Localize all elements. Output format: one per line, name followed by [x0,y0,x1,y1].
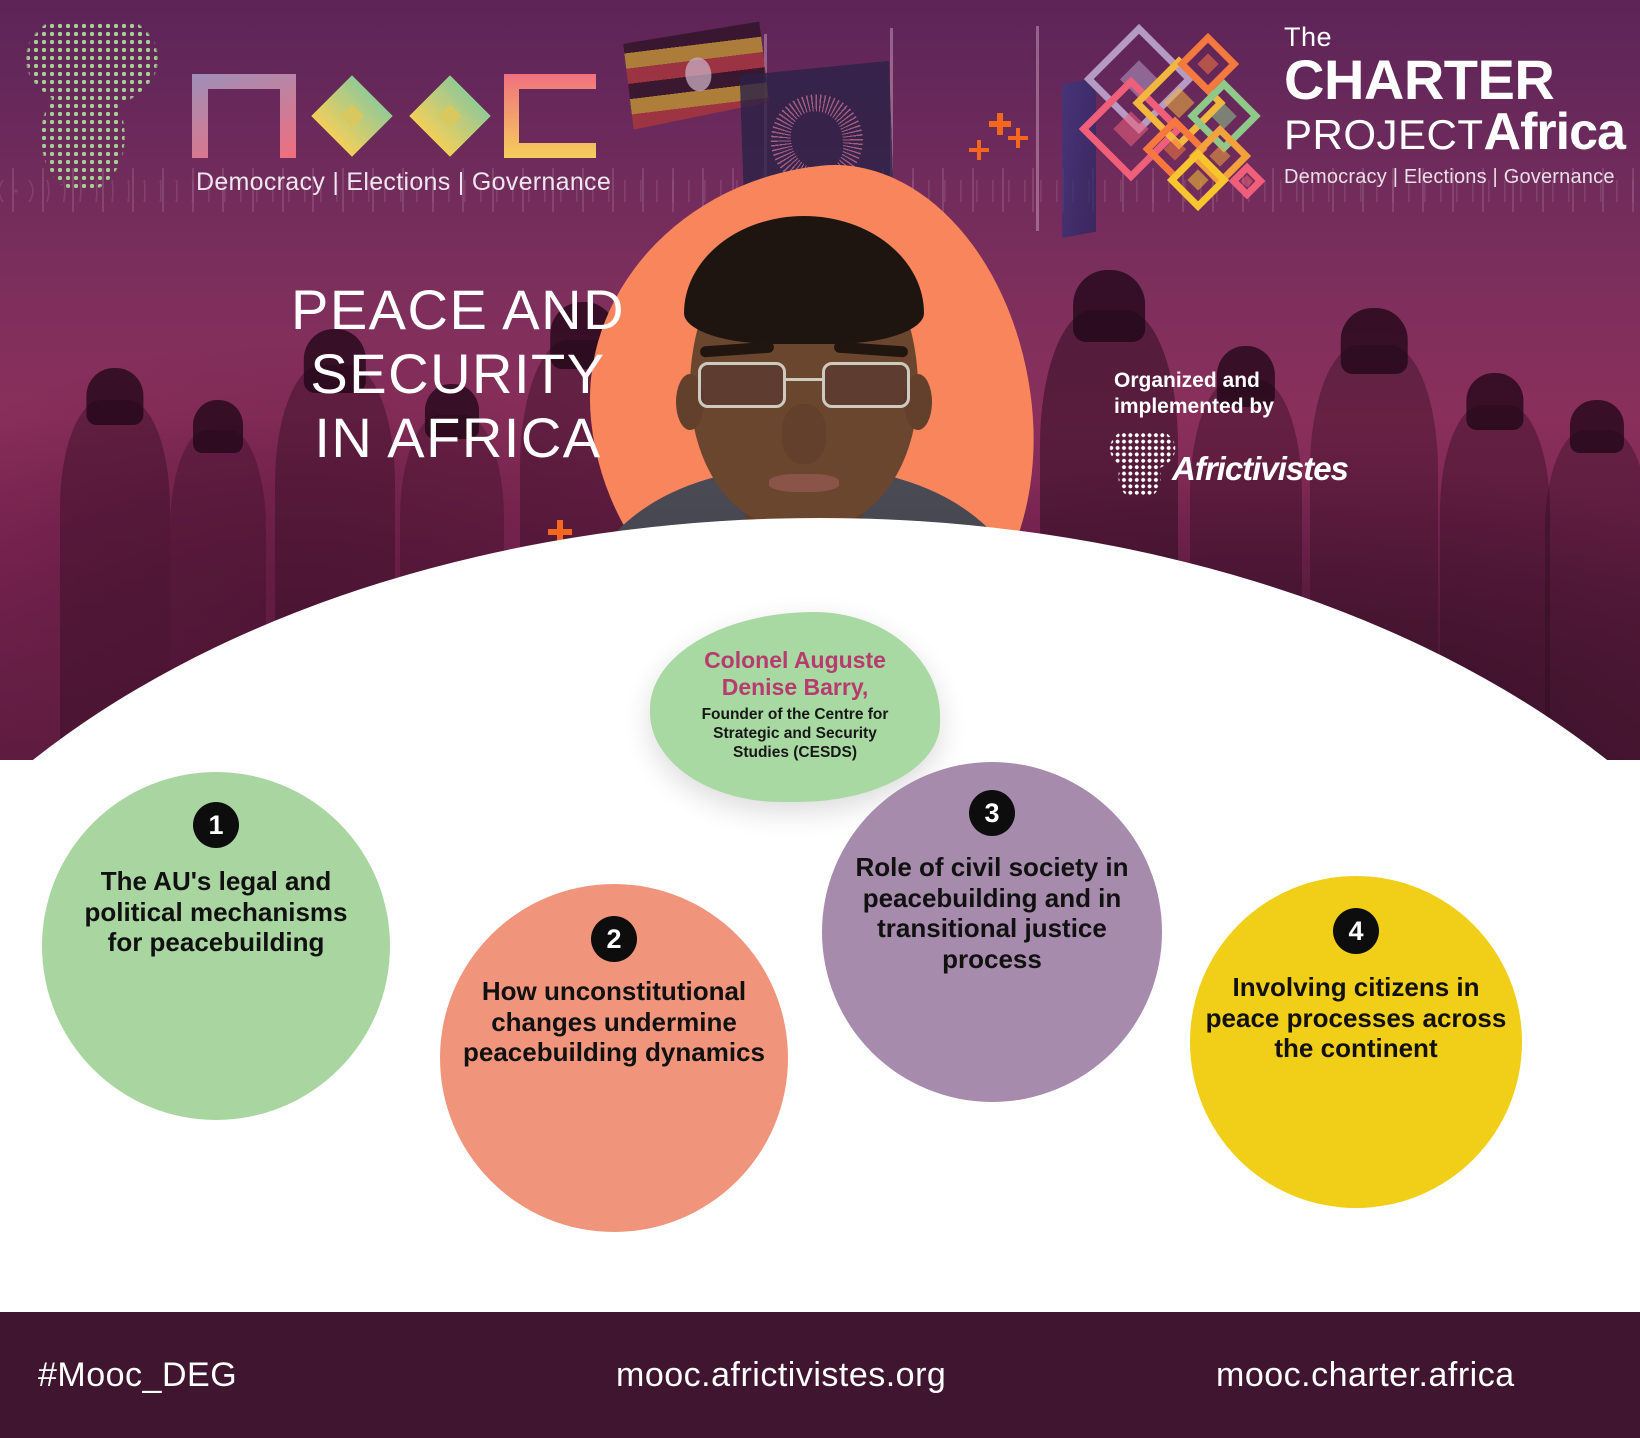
footer-hashtag: #Mooc_DEG [38,1356,237,1395]
topic-circle-2[interactable]: 2 How unconstitutional changes undermine… [440,884,788,1232]
footer-link-charter[interactable]: mooc.charter.africa [1216,1356,1515,1395]
page-title-line-3: IN AFRICA [248,406,668,470]
orange-plus-icon [1008,128,1028,148]
topic-number-badge: 3 [969,790,1015,836]
flagpole [1036,26,1039,231]
charter-project-label: PROJECT [1284,114,1484,156]
topic-text: Involving citizens in peace processes ac… [1201,972,1511,1064]
africa-map-dots-icon [1108,432,1180,496]
africtivistes-wordmark: Africtivistes [1172,450,1348,488]
organizer-label: Organized and implemented by [1114,368,1364,421]
mooc-wordmark-icon [192,70,552,162]
charter-tagline: Democracy | Elections | Governance [1284,166,1625,189]
footer-bar: #Mooc_DEG mooc.africtivistes.org mooc.ch… [0,1312,1640,1438]
page-title-line-2: SECURITY [248,342,668,406]
topic-text: How unconstitutional changes undermine p… [456,976,772,1068]
charter-africa-label: Africa [1484,106,1625,158]
topic-circle-4[interactable]: 4 Involving citizens in peace processes … [1190,876,1522,1208]
topic-text: Role of civil society in peacebuilding a… [827,852,1157,975]
background-figure [1545,430,1640,760]
mooc-logo[interactable]: Democracy | Elections | Governance [10,12,570,192]
charter-wordmark: The CHARTER PROJECT Africa Democracy | E… [1284,22,1625,189]
speaker-role-line-2: Strategic and Security [702,725,889,744]
speaker-role-line-3: Studies (CESDS) [702,744,889,763]
charter-main-label: CHARTER [1284,53,1625,106]
topic-circle-1[interactable]: 1 The AU's legal and political mechanism… [42,772,390,1120]
charter-project-logo[interactable]: The CHARTER PROJECT Africa Democracy | E… [1088,10,1628,196]
eyeglasses-icon [696,358,912,414]
topic-number-badge: 4 [1333,908,1379,954]
footer-link-africtivistes[interactable]: mooc.africtivistes.org [616,1356,946,1395]
topic-text: The AU's legal and political mechanisms … [80,866,352,958]
speaker-name: Colonel Auguste Denise Barry, [668,647,922,700]
topic-number-badge: 2 [591,916,637,962]
orange-plus-icon [969,140,989,160]
topic-circle-3[interactable]: 3 Role of civil society in peacebuilding… [822,762,1162,1102]
speaker-role-line-1: Founder of the Centre for [702,706,889,725]
speaker-role: Founder of the Centre for Strategic and … [702,706,889,763]
africa-map-dots-icon [16,22,168,190]
topic-number-badge: 1 [193,802,239,848]
mooc-letter-c-icon [504,74,596,158]
africtivistes-logo: Africtivistes [1108,432,1368,498]
page-title: PEACE AND SECURITY IN AFRICA [248,278,668,469]
mooc-tagline: Democracy | Elections | Governance [196,168,611,197]
page-title-line-1: PEACE AND [248,278,668,342]
charter-diamond-pattern-icon [1094,18,1284,198]
mooc-letter-m-icon [192,74,296,158]
